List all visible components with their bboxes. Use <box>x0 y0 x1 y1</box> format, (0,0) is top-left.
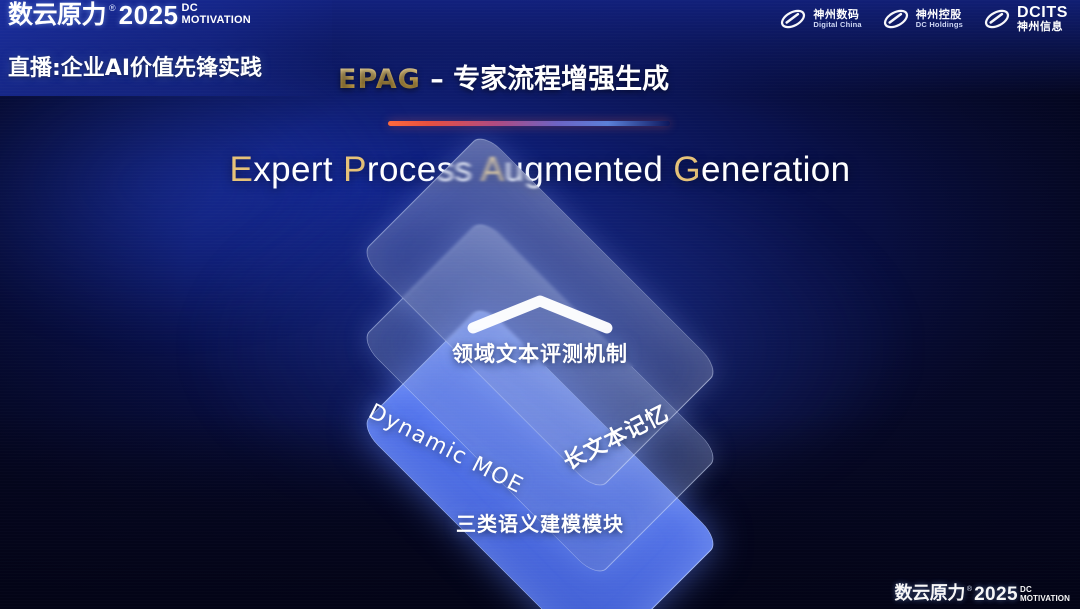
watermark-motivation-label: MOTIVATION <box>1020 595 1070 603</box>
brand-watermark-bottom: 数云原力 ® 2025 DC MOTIVATION <box>895 585 1070 604</box>
watermark-name-cn: 数云原力 <box>895 585 965 603</box>
slide-canvas: 数云原力 ® 2025 DC MOTIVATION 直播:企业AI价值先锋实践 … <box>0 0 1080 609</box>
watermark-dc-label: DC <box>1020 586 1070 594</box>
background-scanline-overlay <box>0 0 1080 609</box>
watermark-registered-mark: ® <box>967 586 972 593</box>
watermark-dc-motivation: DC MOTIVATION <box>1020 586 1070 603</box>
watermark-year: 2025 <box>974 585 1018 604</box>
